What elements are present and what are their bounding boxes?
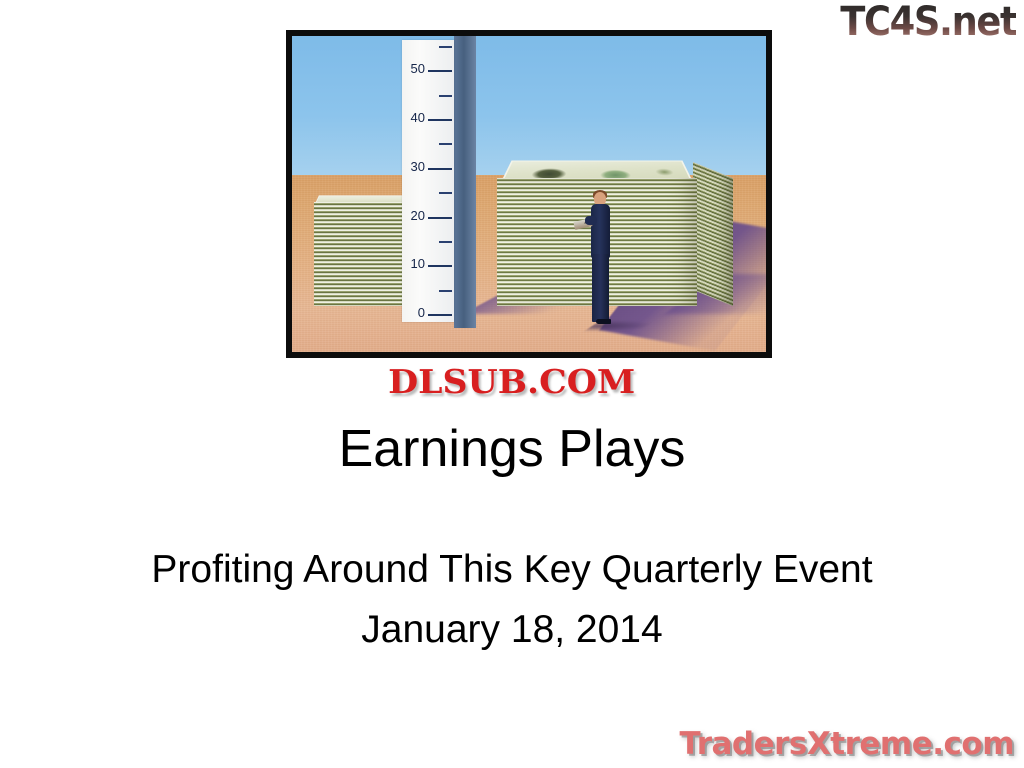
ruler-tick-major (428, 168, 452, 170)
ruler-tick-major (428, 265, 452, 267)
dlsub-watermark: DLSUB.COM (388, 365, 635, 398)
ruler-tick-major (428, 217, 452, 219)
tc4s-watermark: TC4S.net (840, 2, 1016, 42)
slide-canvas: TC4S.net (0, 0, 1024, 768)
ruler: 01020304050 (402, 40, 454, 322)
ruler-tick-label: 40 (411, 111, 425, 124)
ruler-edge (454, 36, 476, 328)
slide-subtitle: Profiting Around This Key Quarterly Even… (0, 540, 1024, 661)
ruler-tick-minor (439, 241, 452, 243)
illustration-image: 01020304050 (292, 36, 766, 352)
slide-subtitle-date: January 18, 2014 (0, 600, 1024, 660)
tradersxtreme-watermark: TradersXtreme.com (679, 729, 1014, 760)
businessman-legs (592, 254, 609, 322)
ruler-tick-label: 0 (418, 306, 425, 319)
ruler-tick-minor (439, 95, 452, 97)
ruler-tick-minor (439, 143, 452, 145)
slide-title: Earnings Plays (0, 420, 1024, 480)
ruler-tick-minor (439, 46, 452, 48)
ruler-tick-minor (439, 290, 452, 292)
businessman-torso (591, 204, 610, 258)
businessman-figure (584, 192, 618, 328)
ruler-tick-label: 10 (411, 257, 425, 270)
dlsub-watermark-container: DLSUB.COM (0, 360, 1024, 402)
ruler-tick-label: 30 (411, 160, 425, 173)
ruler-tick-label: 50 (411, 62, 425, 75)
ruler-tick-label: 20 (411, 209, 425, 222)
ruler-tick-major (428, 70, 452, 72)
money-stack-large-side (693, 162, 733, 306)
illustration-frame: 01020304050 (286, 30, 772, 358)
ruler-tick-minor (439, 192, 452, 194)
ruler-tick-major (428, 119, 452, 121)
ruler-tick-major (428, 314, 452, 316)
businessman-arm (585, 216, 597, 225)
ruler-tick-marks: 01020304050 (402, 40, 454, 322)
slide-subtitle-line1: Profiting Around This Key Quarterly Even… (151, 548, 872, 591)
businessman-shoe (596, 319, 611, 324)
